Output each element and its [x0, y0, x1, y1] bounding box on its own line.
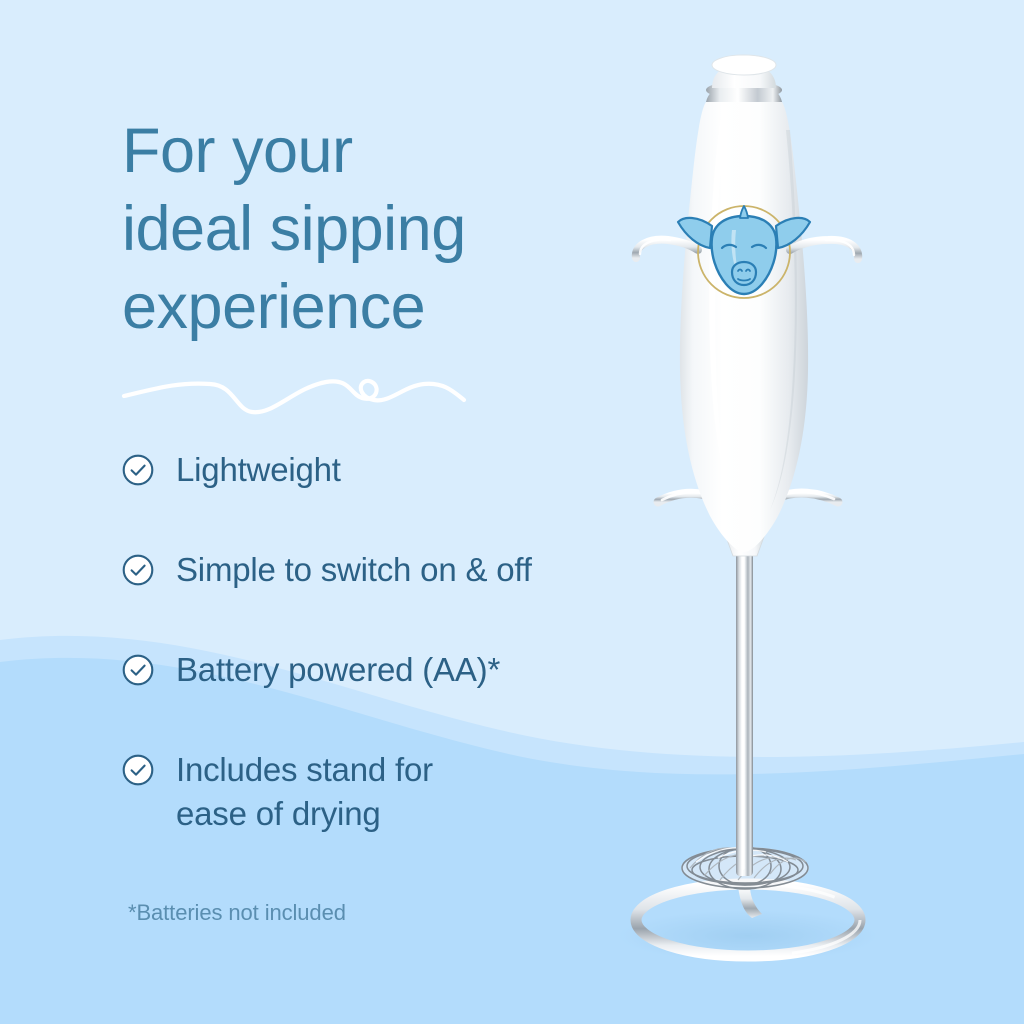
headline-line-2: ideal sipping [122, 190, 592, 268]
page-title: For your ideal sipping experience [122, 112, 592, 346]
product-feature-poster: For your ideal sipping experience Lightw… [0, 0, 1024, 1024]
shaft-highlight [742, 544, 745, 870]
check-circle-icon [122, 754, 154, 786]
check-circle-icon [122, 554, 154, 586]
product-image [540, 40, 980, 1000]
feature-label: Includes stand for ease of drying [176, 748, 433, 836]
feature-label: Lightweight [176, 448, 341, 492]
squiggle-divider-icon [118, 358, 498, 420]
check-circle-icon [122, 454, 154, 486]
footnote-text: *Batteries not included [128, 898, 346, 928]
check-circle-icon [122, 654, 154, 686]
feature-label: Battery powered (AA)* [176, 648, 500, 692]
headline-line-3: experience [122, 268, 592, 346]
frother-body [680, 102, 808, 552]
headline-line-1: For your [122, 112, 592, 190]
feature-label: Simple to switch on & off [176, 548, 532, 592]
